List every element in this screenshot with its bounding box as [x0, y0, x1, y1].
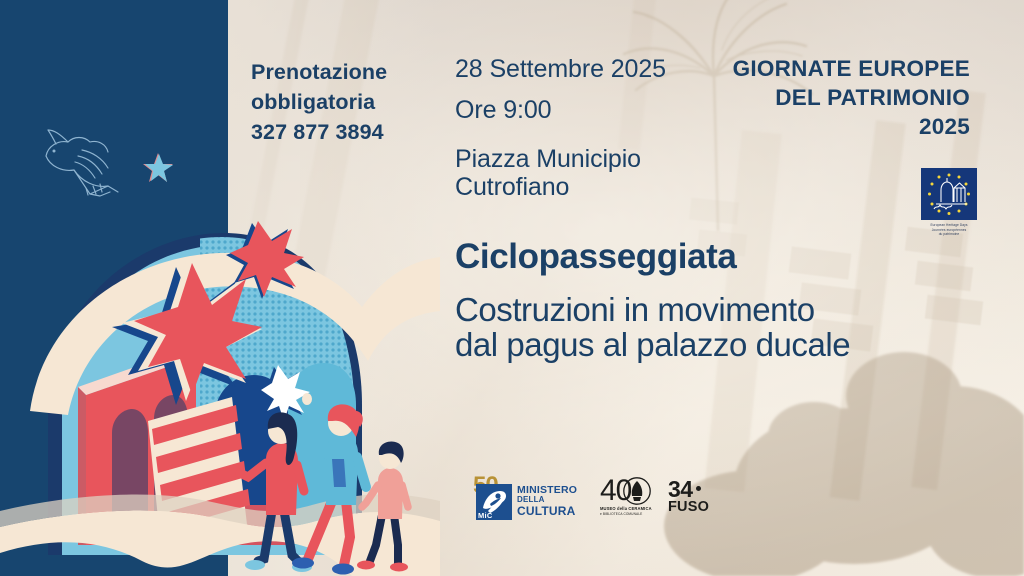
event-subtitle: Costruzioni in movimento dal pagus al pa…	[455, 292, 925, 363]
mic-acronym: MiC	[478, 511, 493, 520]
event-city: Cutrofiano	[455, 173, 755, 201]
booking-info: Prenotazione obbligatoria 327 877 3894	[251, 57, 441, 147]
eu-caption-line-3: du patrimoine	[918, 232, 980, 237]
event-series-heading: GIORNATE EUROPEE DEL PATRIMONIO 2025	[733, 55, 970, 141]
event-title-block: Ciclopasseggiata Costruzioni in moviment…	[455, 238, 925, 362]
european-heritage-days-logo: European Heritage Days Journées européen…	[918, 168, 980, 237]
ministero-della-cultura-logo: 50 MiC MINISTERO DELLA CULTURA	[467, 474, 579, 522]
event-details: 28 Settembre 2025 Ore 9:00 Piazza Munici…	[455, 55, 755, 201]
series-line-2: DEL PATRIMONIO	[733, 84, 970, 113]
star-decoration	[142, 152, 174, 184]
series-line-3: 2025	[733, 113, 970, 142]
dove-icon	[38, 126, 124, 198]
booking-line-1: Prenotazione	[251, 57, 441, 87]
event-poster: Prenotazione obbligatoria 327 877 3894 2…	[0, 0, 1024, 576]
ceramica-caption-2: e BIBLIOTECA COMUNALE	[600, 512, 642, 516]
sponsor-logo-row: 50 MiC MINISTERO DELLA CULTURA	[455, 470, 755, 530]
subtitle-line-1: Costruzioni in movimento	[455, 292, 925, 327]
booking-line-2: obbligatoria	[251, 87, 441, 117]
fuso-logo: 34 FUSO	[668, 476, 709, 515]
ceramica-caption-1: MUSEO della CERAMICA	[600, 506, 652, 511]
eu-logo-mark	[921, 168, 977, 220]
event-place: Piazza Municipio	[455, 145, 755, 173]
event-date: 28 Settembre 2025	[455, 55, 755, 85]
ministero-word-3: CULTURA	[517, 504, 576, 518]
eu-logo-caption: European Heritage Days Journées européen…	[918, 223, 980, 237]
illustration-monument-and-walkers	[0, 215, 440, 576]
fuso-dot-icon	[696, 486, 701, 491]
event-time: Ore 9:00	[455, 96, 755, 126]
ministero-word-2: DELLA	[517, 495, 545, 504]
series-line-1: GIORNATE EUROPEE	[733, 55, 970, 84]
ceramica-emblem	[622, 476, 652, 506]
event-title: Ciclopasseggiata	[455, 238, 925, 277]
booking-phone: 327 877 3894	[251, 117, 441, 147]
subtitle-line-2: dal pagus al palazzo ducale	[455, 327, 925, 362]
fuso-word: FUSO	[668, 499, 709, 515]
museo-ceramica-logo: 40 MUSEO della CERAMICA e BIBLIOTECA COM…	[600, 476, 662, 522]
